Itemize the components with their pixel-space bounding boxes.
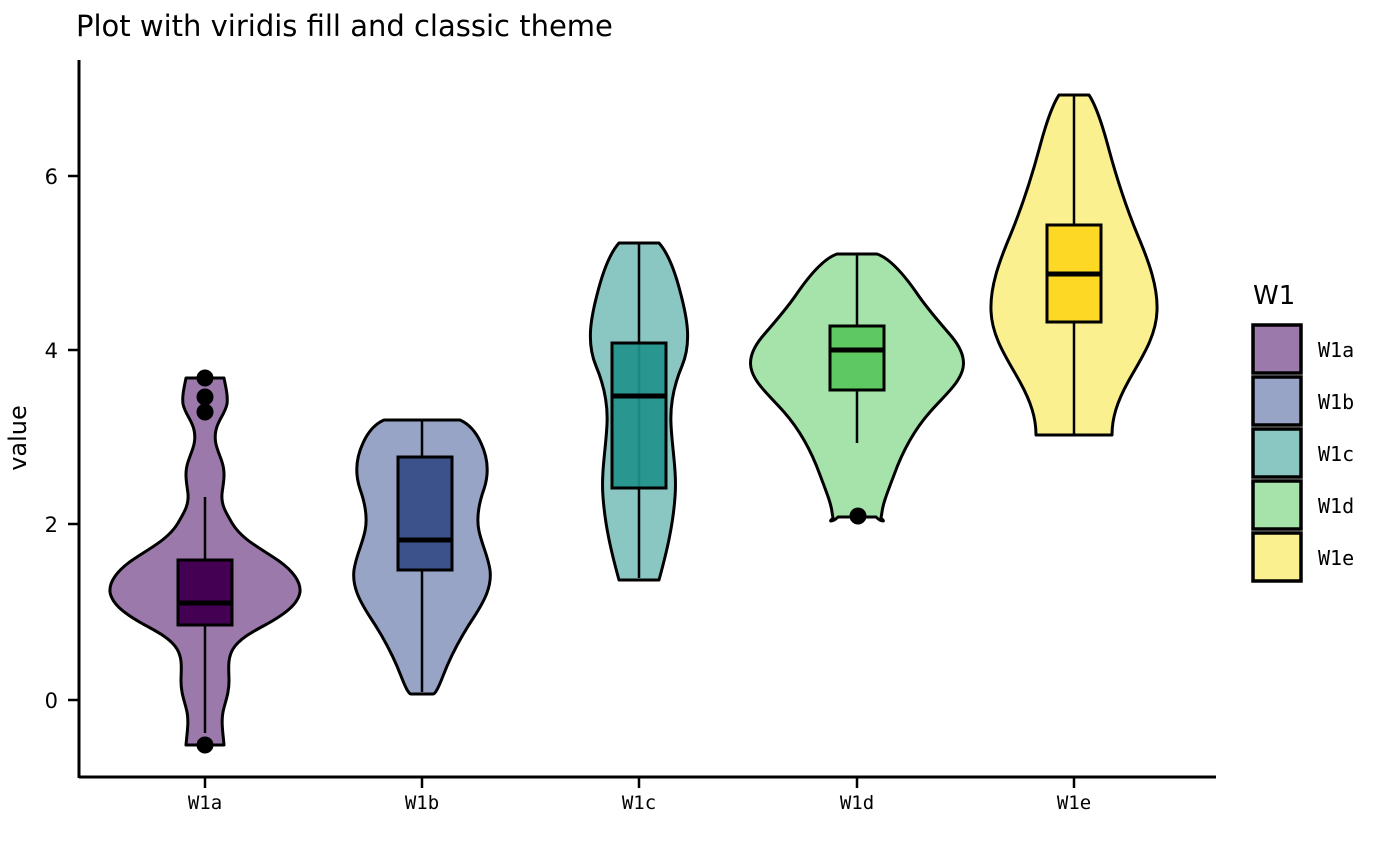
- x-tick-label-w1c: W1c: [622, 792, 656, 814]
- y-tick-label-2: 2: [45, 513, 58, 537]
- legend-label-w1e: W1e: [1318, 546, 1354, 570]
- legend-label-w1d: W1d: [1318, 494, 1354, 518]
- y-tick-label-0: 0: [45, 689, 58, 713]
- legend-label-w1c: W1c: [1318, 442, 1354, 466]
- legend-swatch-w1c: [1253, 429, 1301, 477]
- legend-swatch-w1a: [1253, 325, 1301, 373]
- box-w1b: [398, 457, 452, 570]
- x-tick-label-w1b: W1b: [405, 792, 439, 814]
- x-tick-label-w1a: W1a: [188, 792, 222, 814]
- y-axis-title: value: [4, 405, 32, 471]
- violin-group-w1d[interactable]: [750, 254, 963, 524]
- box-w1d: [830, 326, 884, 390]
- chart-container: Plot with viridis fill and classic theme…: [0, 0, 1400, 865]
- legend-swatch-w1d: [1253, 481, 1301, 529]
- legend-title: W1: [1253, 281, 1295, 311]
- x-tick-label-w1e: W1e: [1057, 792, 1091, 814]
- legend-item-w1c[interactable]: W1c: [1253, 429, 1354, 477]
- violin-group-w1c[interactable]: [590, 243, 687, 580]
- outlier-point: [197, 389, 213, 405]
- chart-title: Plot with viridis fill and classic theme: [76, 9, 613, 43]
- y-axis-ticks: [68, 176, 79, 700]
- outlier-point: [197, 370, 213, 386]
- legend-swatch-w1b: [1253, 377, 1301, 425]
- x-tick-label-w1d: W1d: [840, 792, 874, 814]
- legend-item-w1a[interactable]: W1a: [1253, 325, 1354, 373]
- box-w1a: [178, 560, 232, 625]
- legend-label-w1b: W1b: [1318, 390, 1354, 414]
- outlier-point: [850, 508, 866, 524]
- violin-plot-svg: Plot with viridis fill and classic theme…: [0, 0, 1400, 865]
- legend-item-w1d[interactable]: W1d: [1253, 481, 1354, 529]
- box-w1c: [612, 343, 666, 488]
- outlier-point: [197, 737, 213, 753]
- x-axis-ticks: [205, 777, 1074, 788]
- legend-swatch-w1e: [1253, 533, 1301, 581]
- legend-item-w1b[interactable]: W1b: [1253, 377, 1354, 425]
- y-tick-label-6: 6: [45, 165, 58, 189]
- legend-label-w1a: W1a: [1318, 338, 1354, 362]
- violin-group-w1a[interactable]: [110, 370, 300, 753]
- violin-group-w1e[interactable]: [991, 95, 1157, 435]
- y-tick-label-4: 4: [45, 339, 58, 363]
- violin-group-w1b[interactable]: [354, 420, 491, 694]
- legend-item-w1e[interactable]: W1e: [1253, 533, 1354, 581]
- outlier-point: [197, 404, 213, 420]
- legend: W1 W1a W1b W1c W1d W1e: [1253, 281, 1354, 581]
